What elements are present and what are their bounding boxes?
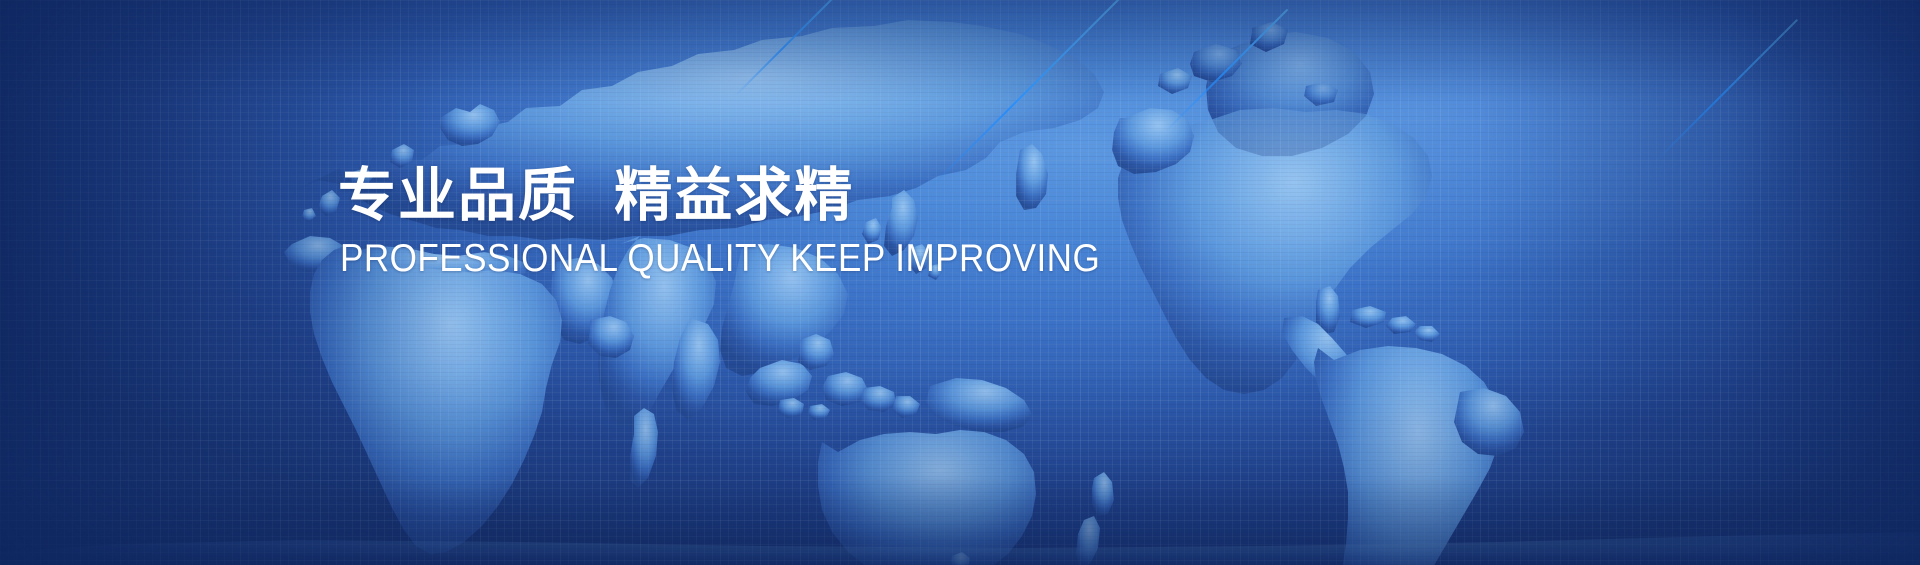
banner-copy: 专业品质 精益求精 PROFESSIONAL QUALITY KEEP IMPR… <box>338 166 1238 278</box>
banner-headline: 专业品质 精益求精 <box>338 166 1238 225</box>
hero-banner: 专业品质 精益求精 PROFESSIONAL QUALITY KEEP IMPR… <box>0 0 1920 565</box>
vignette-overlay <box>0 0 1920 565</box>
banner-subheadline: PROFESSIONAL QUALITY KEEP IMPROVING <box>340 239 1148 278</box>
